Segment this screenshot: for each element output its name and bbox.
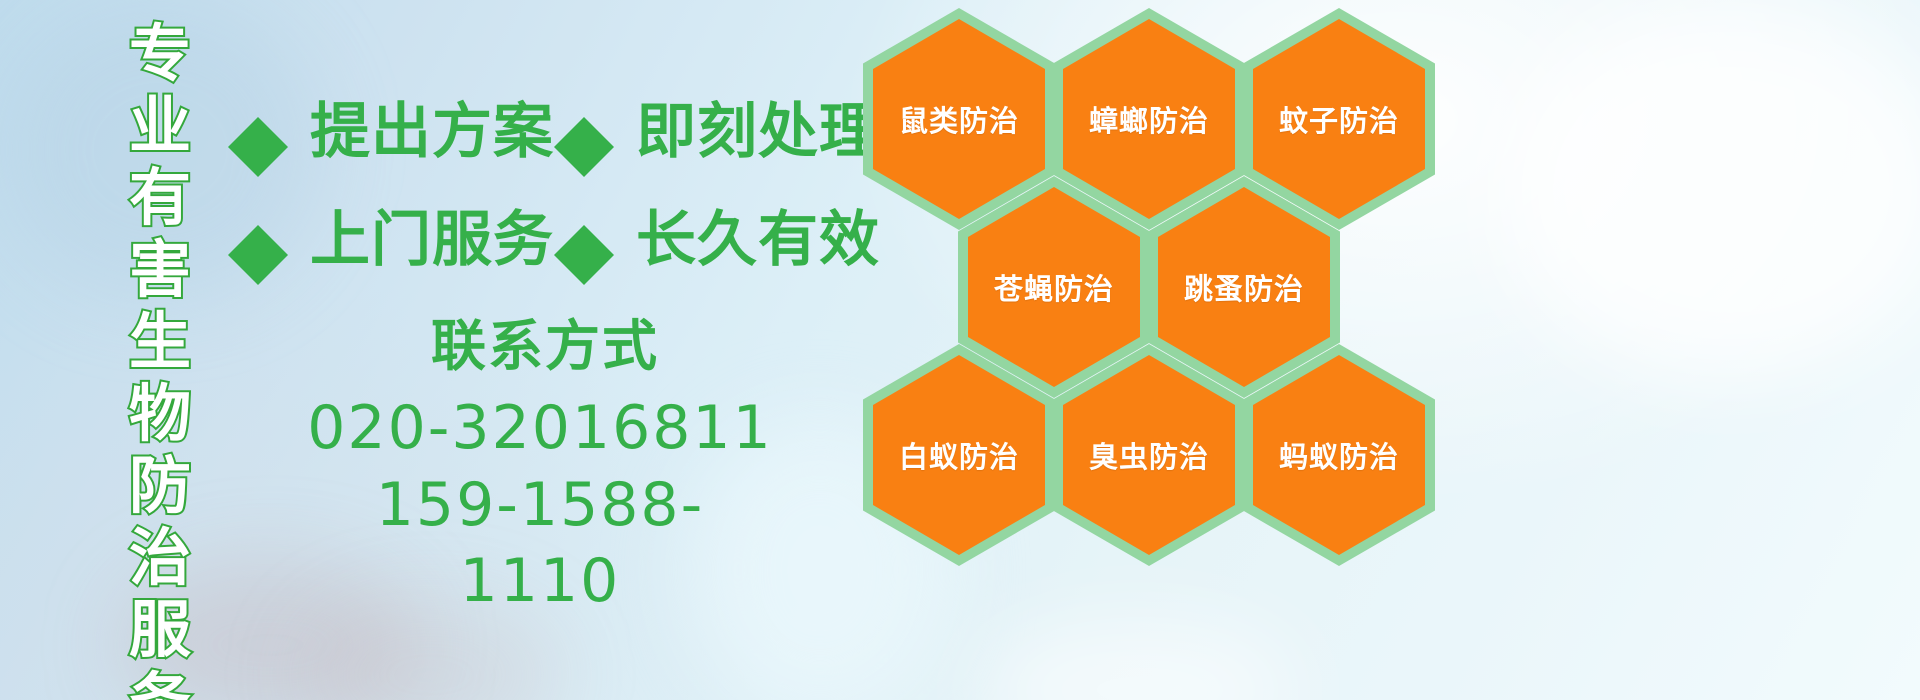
- contact-phone-mobile[interactable]: 159-1588-1110: [300, 467, 780, 621]
- feature-label: 提出方案: [310, 102, 554, 162]
- promo-banner: 专 业 有 害 生 物 防 治 服 务 提出方案 即刻处理 上门服务: [0, 0, 1920, 700]
- service-hex-label: 蚂蚁防治: [1279, 434, 1399, 476]
- vertical-headline-char: 务: [129, 666, 191, 700]
- service-hex-label: 蚊子防治: [1279, 98, 1399, 140]
- feature-label: 即刻处理: [636, 102, 880, 162]
- feature-label: 上门服务: [310, 210, 554, 270]
- background-blob: [1500, 0, 1920, 380]
- feature-item: 上门服务: [228, 210, 554, 270]
- vertical-headline-char: 服: [129, 594, 191, 666]
- feature-item: 提出方案: [228, 102, 554, 162]
- vertical-headline-char: 业: [129, 90, 191, 162]
- feature-item: 长久有效: [554, 210, 880, 270]
- service-hex-bedbug[interactable]: 臭虫防治: [1053, 344, 1245, 566]
- feature-item: 即刻处理: [554, 102, 880, 162]
- vertical-headline: 专 业 有 害 生 物 防 治 服 务: [112, 18, 208, 678]
- vertical-headline-char: 生: [129, 306, 191, 378]
- service-hex-label: 跳蚤防治: [1184, 266, 1304, 308]
- service-hex-label: 苍蝇防治: [994, 266, 1114, 308]
- service-hex-label: 鼠类防治: [899, 98, 1019, 140]
- diamond-icon: [228, 87, 288, 147]
- service-hex-label: 臭虫防治: [1089, 434, 1209, 476]
- vertical-headline-char: 专: [129, 18, 191, 90]
- feature-list: 提出方案 即刻处理 上门服务 长久有效: [228, 78, 878, 294]
- service-hex-label: 白蚁防治: [899, 434, 1019, 476]
- diamond-icon: [554, 195, 614, 255]
- vertical-headline-char: 物: [129, 378, 191, 450]
- vertical-headline-char: 害: [129, 234, 191, 306]
- diamond-icon: [228, 195, 288, 255]
- diamond-icon: [554, 87, 614, 147]
- feature-row: 提出方案 即刻处理: [228, 78, 878, 186]
- service-hex-label: 蟑螂防治: [1089, 98, 1209, 140]
- service-hex-termite[interactable]: 白蚁防治: [863, 344, 1055, 566]
- vertical-headline-char: 治: [129, 522, 191, 594]
- feature-row: 上门服务 长久有效: [228, 186, 878, 294]
- contact-title: 联系方式: [300, 318, 780, 376]
- feature-label: 长久有效: [636, 210, 880, 270]
- service-hex-grid: 鼠类防治 蟑螂防治 蚊子防治 苍蝇防治 跳蚤防治 白蚁防治: [855, 0, 1475, 700]
- contact-block: 联系方式 020-32016811 159-1588-1110: [300, 318, 780, 620]
- vertical-headline-char: 防: [129, 450, 191, 522]
- service-hex-ant[interactable]: 蚂蚁防治: [1243, 344, 1435, 566]
- vertical-headline-char: 有: [129, 162, 191, 234]
- contact-phone-landline[interactable]: 020-32016811: [300, 390, 780, 467]
